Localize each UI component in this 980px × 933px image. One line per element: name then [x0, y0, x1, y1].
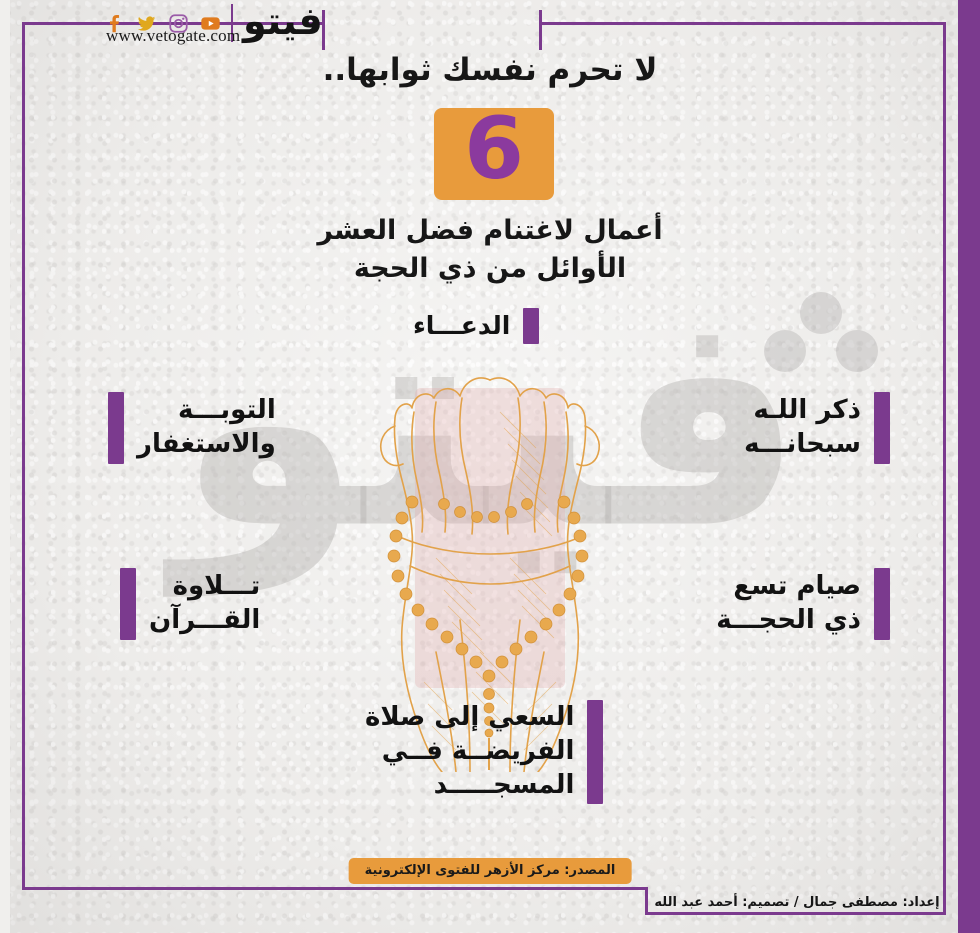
logo-text: فيتو — [243, 0, 323, 43]
list-item-tilawa: تـــلاوة القـــرآن — [120, 568, 260, 640]
frame-top-right — [542, 22, 946, 25]
number-badge: 6 — [434, 108, 554, 200]
item-label: تـــلاوة القـــرآن — [149, 570, 260, 638]
item-accent-bar — [874, 568, 890, 640]
item-accent-bar — [587, 700, 603, 804]
item-accent-bar — [874, 392, 890, 464]
item-accent-bar — [523, 308, 539, 344]
background-blob — [415, 388, 565, 688]
frame-left — [22, 22, 25, 890]
list-item-dhikr: ذكر اللـه سبحانـــه — [744, 392, 890, 464]
right-edge-bar — [958, 0, 980, 933]
frame-tick-logo-right — [539, 10, 542, 50]
page-title: لا تحرم نفسك ثوابها.. — [0, 52, 980, 88]
page-subtitle: أعمال لاغتنام فضل العشر الأوائل من ذي ال… — [0, 212, 980, 289]
frame-tick-credit-left — [645, 887, 648, 915]
number-badge-value: 6 — [464, 111, 524, 188]
subtitle-line-1: أعمال لاغتنام فضل العشر — [0, 212, 980, 250]
item-label: ذكر اللـه سبحانـــه — [744, 394, 861, 462]
item-label: التوبـــة والاستغفار — [137, 394, 276, 462]
infographic-poster: فيتو — [0, 0, 980, 933]
item-label: السعي إلى صلاة الفريضــة فــي المسجـــــ… — [365, 701, 574, 802]
frame-right — [943, 22, 946, 890]
list-item-siyam: صيام تسع ذي الحجـــة — [716, 568, 890, 640]
list-item-dua: الدعـــاء — [413, 308, 539, 344]
source-badge: المصدر: مركز الأزهر للفتوى الإلكترونية — [349, 858, 632, 884]
vetogate-logo[interactable]: فيتو — [243, 2, 323, 40]
item-accent-bar — [120, 568, 136, 640]
frame-tick-credit-right — [943, 887, 946, 915]
site-url[interactable]: www.vetogate.com — [106, 26, 240, 46]
item-label: صيام تسع ذي الحجـــة — [716, 570, 861, 638]
watermark-dots — [750, 292, 890, 384]
frame-bottom — [22, 887, 646, 890]
subtitle-line-2: الأوائل من ذي الحجة — [0, 250, 980, 288]
list-item-masjid: السعي إلى صلاة الفريضــة فــي المسجـــــ… — [365, 700, 603, 804]
item-accent-bar — [108, 392, 124, 464]
credits-line: إعداد: مصطفى جمال / تصميم: أحمد عبد الله — [653, 890, 941, 914]
left-edge-strip — [0, 0, 10, 933]
list-item-tawba: التوبـــة والاستغفار — [108, 392, 276, 464]
item-label: الدعـــاء — [413, 310, 510, 343]
